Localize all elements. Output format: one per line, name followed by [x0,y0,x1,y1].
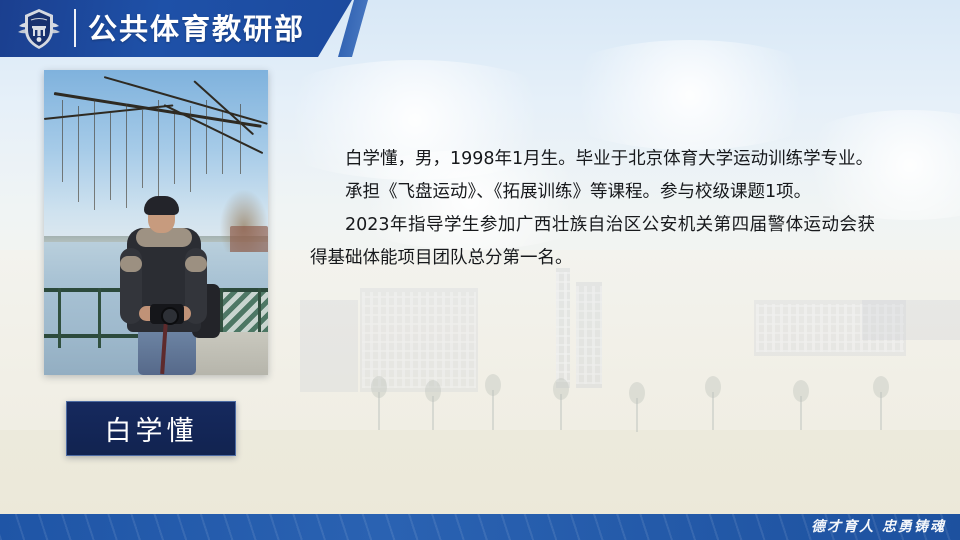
photo-willow-strand [94,100,95,210]
background-tree [880,392,882,430]
background-tree [492,390,494,430]
photo-person-beanie [144,196,179,215]
background-tree [378,392,380,430]
photo-willow-strand [174,114,175,184]
header-divider [74,9,76,47]
bio-paragraph-2: 承担《飞盘运动》、《拓展训练》等课程。参与校级课题1项。 [310,176,875,209]
background-tree [800,396,802,430]
portrait-photo [44,70,268,375]
photo-pavilion [230,226,268,252]
photo-willow-strand [78,106,79,202]
name-badge-label: 白学懂 [105,409,198,448]
photo-railing-post [98,288,101,348]
bio-paragraph-1: 白学懂，男，1998年1月生。毕业于北京体育大学运动训练学专业。 [310,143,875,176]
photo-willow-strand [142,110,143,188]
background-cloud [540,40,840,150]
photo-willow-strand [206,100,207,174]
footer-motto: 德才育人 忠勇铸魂 [811,515,946,539]
background-tree [636,398,638,432]
page-title: 公共体育教研部 [88,8,305,50]
background-building-windows [576,286,602,384]
photo-willow-strand [240,104,241,174]
background-building-windows [362,292,476,388]
background-tree [712,392,714,430]
background-tree [560,394,562,430]
footer-bar: 德才育人 忠勇铸魂 [0,514,960,540]
background-tree [432,396,434,430]
photo-willow-strand [110,112,111,200]
slide-root: 公共体育教研部 [0,0,960,540]
photo-person-cuff-right [185,256,207,272]
bio-paragraph-3: 2023年指导学生参加广西壮族自治区公安机关第四届警体运动会获得基础体能项目团队… [310,209,875,275]
background-building-windows [556,272,570,382]
photo-willow-strand [190,106,191,192]
photo-person-cuff-left [120,256,142,272]
photo-willow-strand [62,100,63,182]
photo-willow-strand [126,104,127,208]
background-building [862,300,960,340]
biography-text: 白学懂，男，1998年1月生。毕业于北京体育大学运动训练学专业。 承担《飞盘运动… [310,143,875,275]
university-emblem-icon [16,6,62,52]
background-building [300,300,358,392]
photo-railing-post [58,288,61,348]
photo-camera [150,304,184,324]
name-badge: 白学懂 [66,401,236,456]
photo-willow-strand [158,100,159,196]
photo-willow-strand [222,112,223,174]
